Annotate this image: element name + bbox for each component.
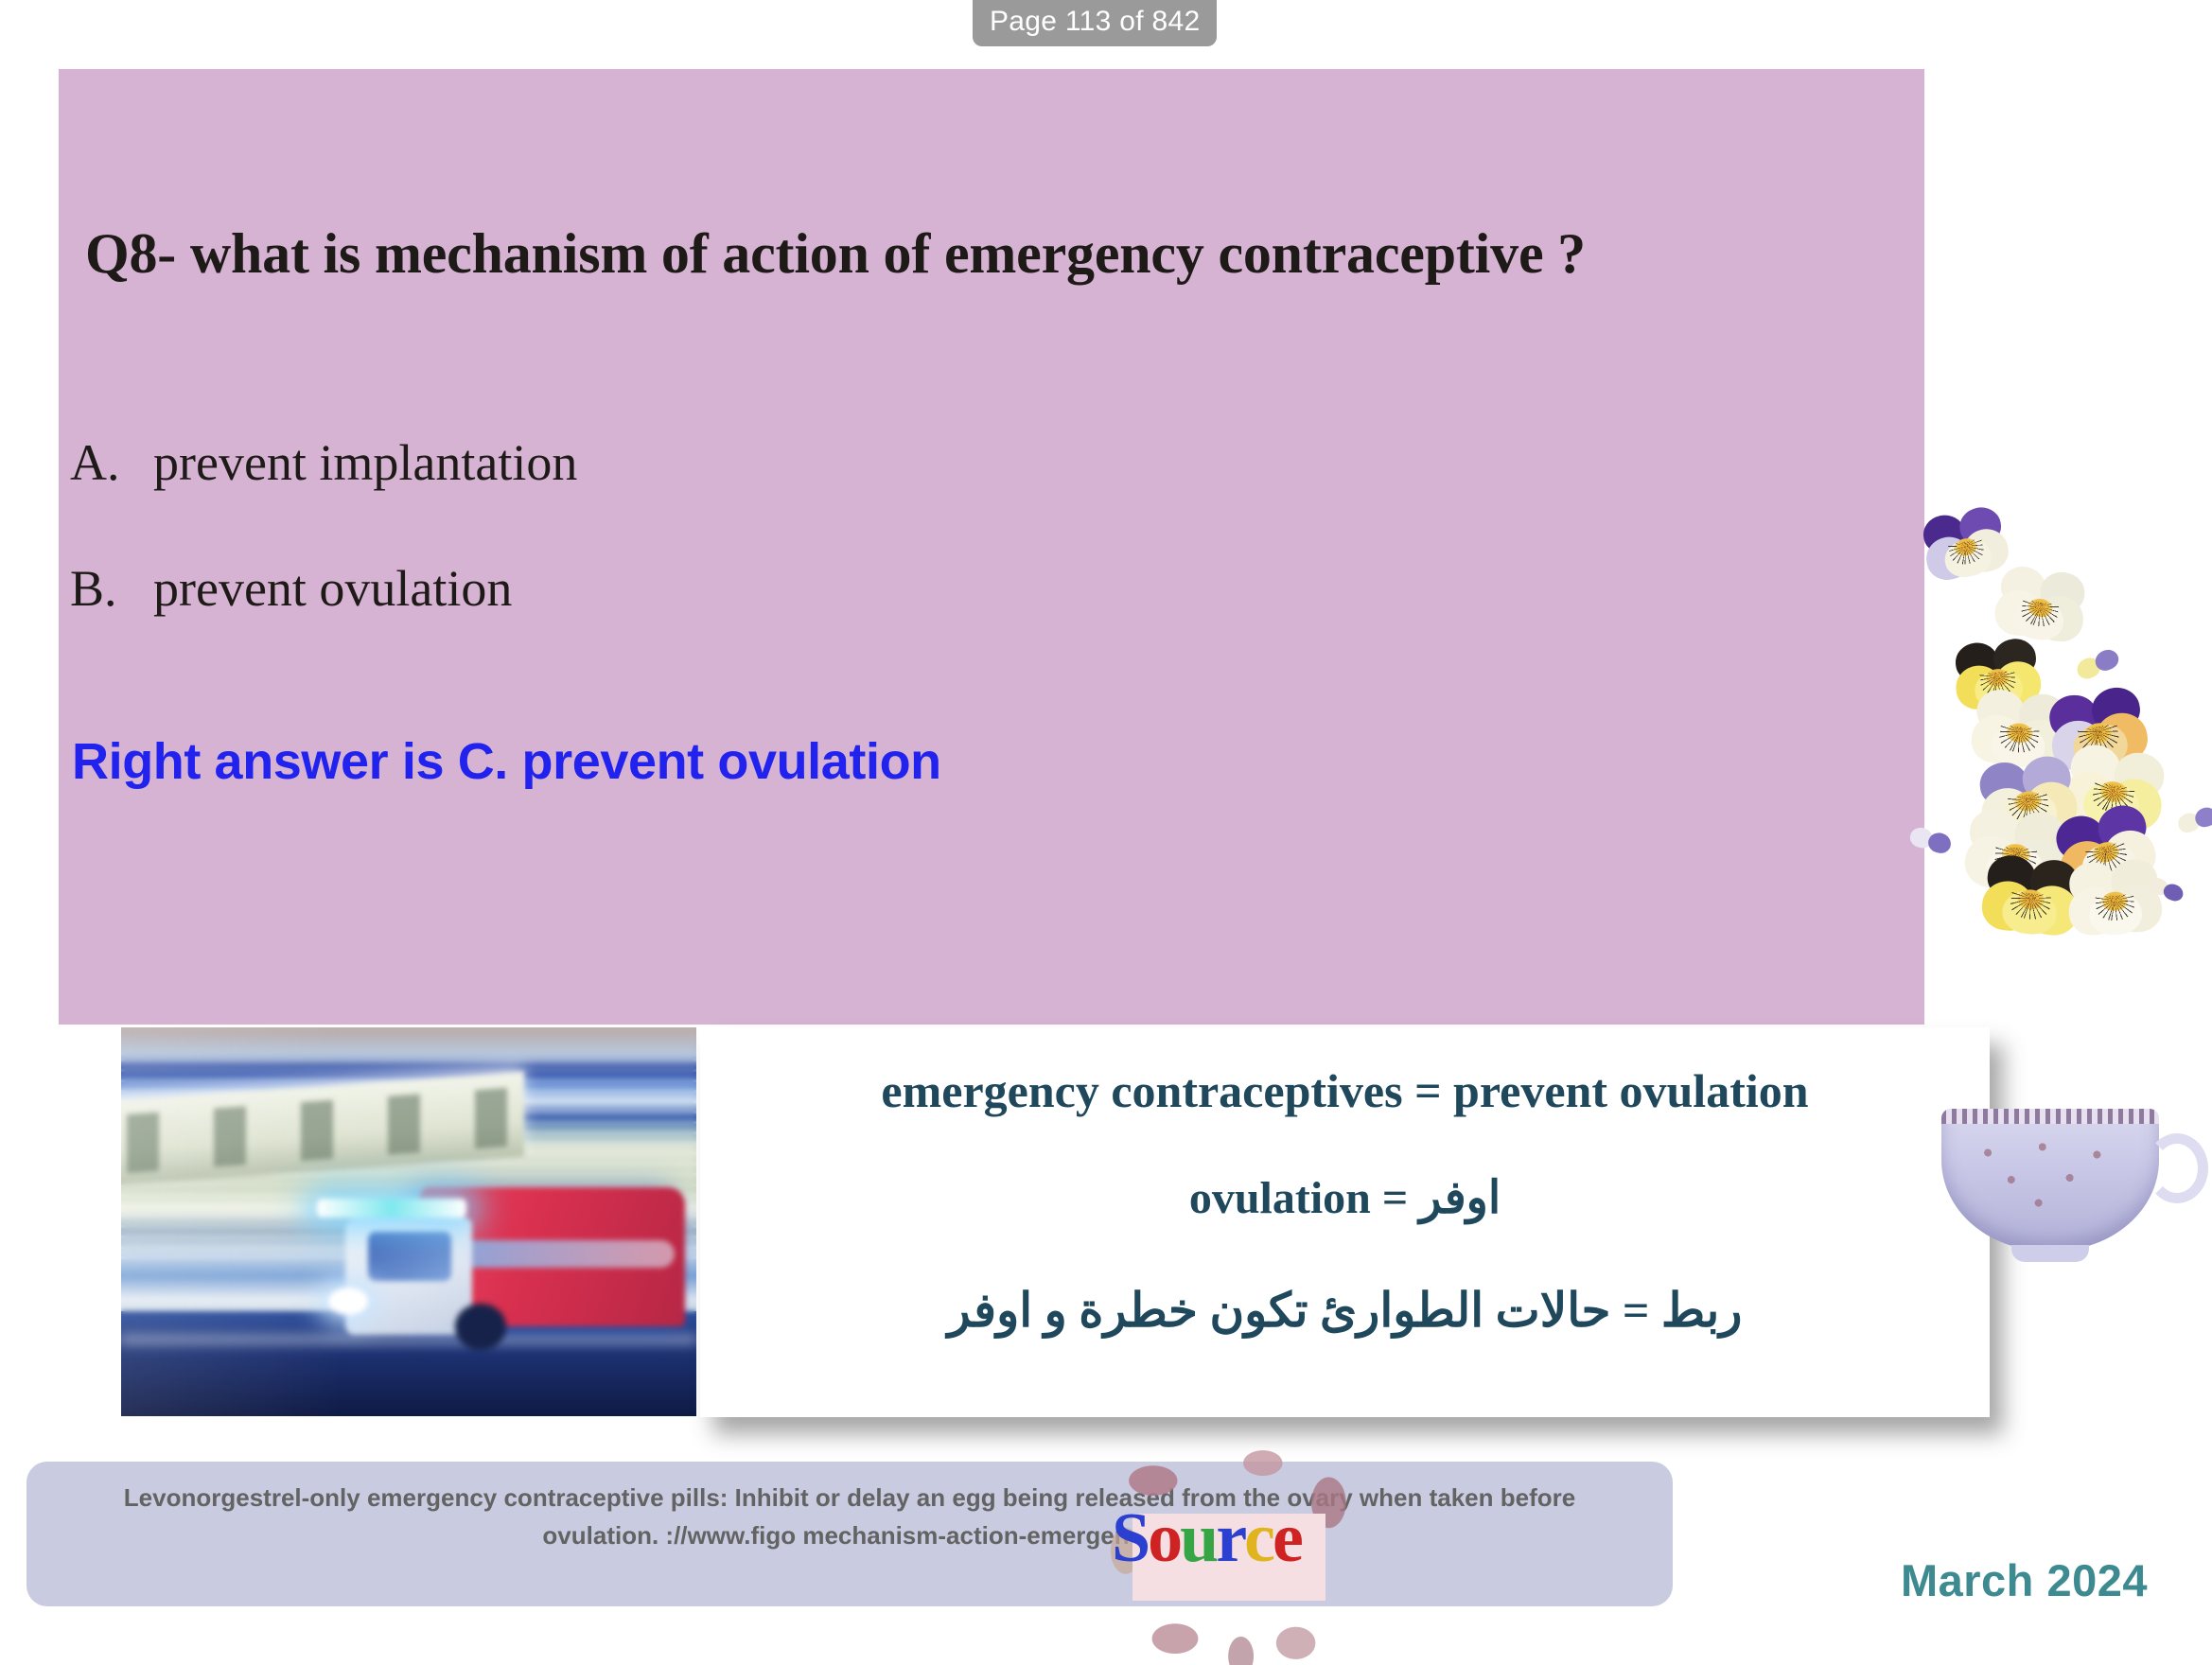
pansy-petal-fragment-icon [2069,636,2122,683]
pansy-petal [2011,597,2066,643]
pansy-petal [2012,717,2068,770]
pansy-center [2001,843,2030,866]
pansy-petal [2092,646,2122,675]
pansy-petal [1980,879,2037,933]
correct-answer-text: Right answer is C. prevent ovulation [72,731,941,792]
source-letter-1: S [1112,1495,1148,1582]
question-panel: Q8- what is mechanism of action of emerg… [59,69,1924,1025]
pansy-flower-icon [2059,741,2169,835]
pansy-flower-icon [1975,753,2080,842]
pansy-flower-icon [2065,858,2163,938]
source-letter-5: c [1244,1495,1273,1582]
pansy-petal [1974,668,2025,710]
pansy-veins [1948,538,1985,567]
teacup-foot [2011,1245,2090,1262]
pansy-petal-fragment-icon [2172,795,2212,835]
pansy-center [2101,891,2129,912]
pansy-veins [2086,841,2130,875]
pansy-petal [1993,587,2046,639]
pansy-veins [2010,891,2050,920]
teacup-handle [2146,1133,2208,1203]
pansy-petal [2110,858,2159,903]
source-letter-6: e [1273,1495,1301,1582]
pansy-petal [2039,570,2088,615]
pansy-petal [2000,789,2060,839]
pansy-petal [1985,844,2045,892]
pansy-petal [2092,709,2151,765]
pansy-petal [2014,811,2067,859]
pansy-petal [1957,503,2005,548]
pansy-center [2098,780,2130,804]
pansy-petal [1990,722,2046,769]
citation-text: Levonorgestrel-only emergency contracept… [26,1479,1673,1554]
pansy-petal [1953,640,1999,682]
source-word: Source [1112,1495,1360,1582]
pansy-petal [1968,807,2021,855]
pansy-center [1985,668,2010,688]
pansy-petal [1975,688,2026,734]
pansy-veins [2078,723,2120,755]
pansy-petal [2032,593,2086,644]
pansy-petal [2010,837,2067,892]
pansy-petal [1985,853,2037,901]
pansy-petal [2022,779,2080,834]
pansy-flower-icon [1992,564,2089,646]
question-title: Q8- what is mechanism of action of emerg… [85,221,1586,286]
pansy-petal [1976,760,2029,809]
pansy-center [2091,839,2122,865]
source-letter-2: o [1148,1495,1180,1582]
photo-blur-overlay [121,1027,696,1416]
pansy-petal [1954,663,2004,710]
pansy-veins [1994,846,2036,876]
pansy-center [2006,722,2034,744]
pansy-petal [2020,753,2073,802]
pansy-petal [1978,785,2036,841]
pansy-petal [2089,684,2144,734]
pansy-flower-icon [2049,800,2161,898]
explanation-line-mnemonic-arabic: ربط = حالات الطوارئ تكون خطرة و اوفر [700,1281,1990,1340]
pansy-veins [1980,670,2016,696]
pansy-petal [1963,834,2021,889]
pansy-petal [2078,837,2140,892]
slide-canvas: Page 113 of 842 Q8- what is mechanism of… [0,0,2212,1665]
pansy-petal [1926,830,1954,855]
pansy-petal [2070,720,2131,771]
pansy-flower-icon [1979,853,2082,939]
pansy-petal [2193,805,2212,830]
ambulance-photo [121,1027,696,1416]
pansy-petal [2094,800,2151,853]
option-b: B.prevent ovulation [70,559,512,618]
pansy-center [2083,721,2114,745]
pansy-flower-icon [1952,637,2044,712]
pansy-petal [2146,875,2170,898]
pansy-petal [2028,858,2080,905]
pansy-petal-fragment-icon [2146,867,2189,904]
pansy-petal [2162,881,2186,903]
pansy-petal [2074,654,2104,682]
pansy-petal [1941,535,1994,581]
pansy-petal [2080,779,2143,832]
pansy-petal [1993,659,2043,707]
option-b-letter: B. [70,559,153,618]
pansy-petal [2112,749,2168,801]
explanation-line-ovulation-arabic: اوفر = ovulation [700,1171,1990,1226]
pansy-veins [2091,781,2134,815]
pansy-petal [2051,811,2108,864]
pansy-petal [2067,861,2116,905]
citation-banner: Levonorgestrel-only emergency contracept… [26,1462,1673,1606]
pansy-petal [2024,884,2080,938]
pansy-petal [1920,512,1968,556]
source-sticker: Source [1093,1446,1367,1665]
date-label: March 2024 [1901,1554,2148,1607]
pansy-veins [1999,725,2040,754]
source-letter-3: u [1180,1495,1216,1582]
pansy-flower-icon [1969,687,2071,771]
pansy-veins [2020,599,2059,627]
source-letter-4: r [1216,1495,1244,1582]
page-indicator: Page 113 of 842 [973,0,1217,46]
pansy-petal [2060,767,2121,826]
pansy-flower-icon [1918,503,2012,585]
option-a: A.prevent implantation [70,433,577,492]
pansy-petal [2175,811,2202,835]
option-a-letter: A. [70,433,153,492]
pansy-flower-icon [2044,684,2151,776]
explanation-line-english: emergency contraceptives = prevent ovula… [700,1063,1990,1118]
pansy-petal [2018,692,2069,738]
pansy-petal [2056,836,2118,896]
pansy-petal [2110,883,2163,934]
pansy-veins [2096,894,2134,921]
pansy-petal [2098,825,2161,885]
pansy-center [2016,888,2045,911]
pansy-petal [1998,564,2047,609]
pansy-petal [2104,775,2166,833]
option-b-text: prevent ovulation [153,560,512,617]
pansy-veins [2008,792,2049,823]
pansy-center [2013,790,2043,814]
pansy-petal [1969,712,2025,765]
pansy-petal [2001,888,2059,937]
explanation-box: emergency contraceptives = prevent ovula… [700,1027,1990,1417]
pansy-petal [2045,692,2100,742]
pansy-petal [1922,533,1975,583]
pansy-petal [1993,637,2039,678]
pansy-petal [2048,717,2108,774]
pansy-petal [2067,741,2124,793]
pansy-petal [2088,891,2143,936]
pansy-petal [1959,525,2011,575]
pansy-flower-icon [1963,807,2069,894]
pansy-center [1953,536,1979,558]
pansy-petal [2067,885,2120,937]
option-a-text: prevent implantation [153,434,577,491]
pansy-center [2027,597,2054,619]
